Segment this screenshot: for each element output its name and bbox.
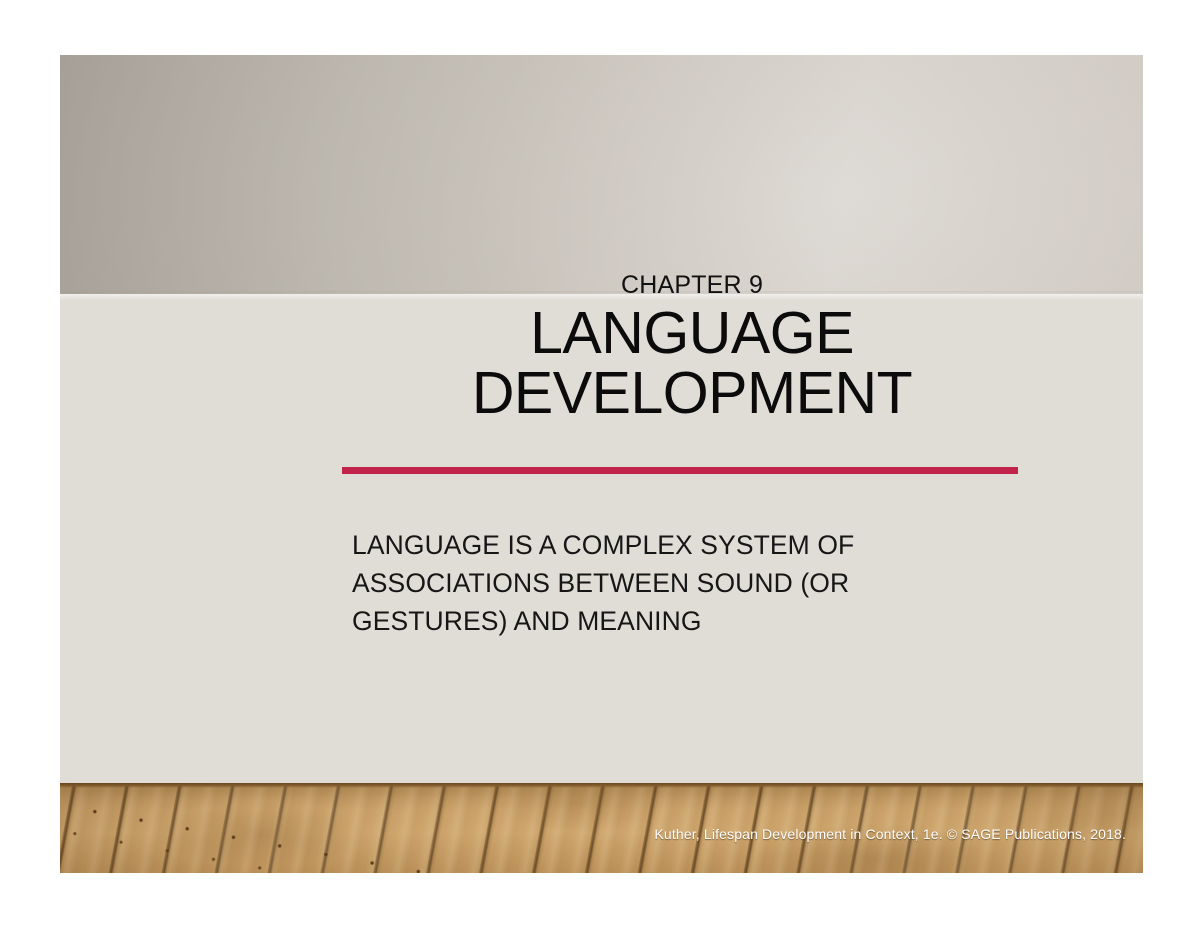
slide-subtitle-line-3: GESTURES) AND MEANING [352,603,1012,641]
slide-page: CHAPTER 9 LANGUAGE DEVELOPMENT LANGUAGE … [0,0,1200,927]
chapter-label: CHAPTER 9 [352,273,1032,298]
accent-divider-rule [342,467,1018,474]
copyright-credit-line: Kuther, Lifespan Development in Context,… [60,826,1126,842]
slide-subtitle-line-1: LANGUAGE IS A COMPLEX SYSTEM OF [352,527,1012,565]
slide-title: LANGUAGE DEVELOPMENT [352,303,1032,423]
slide-title-line-1: LANGUAGE [352,303,1032,363]
presentation-slide: CHAPTER 9 LANGUAGE DEVELOPMENT LANGUAGE … [60,55,1143,873]
slide-subtitle: LANGUAGE IS A COMPLEX SYSTEM OF ASSOCIAT… [352,527,1012,641]
slide-subtitle-line-2: ASSOCIATIONS BETWEEN SOUND (OR [352,565,1012,603]
slide-title-line-2: DEVELOPMENT [352,363,1032,423]
wall-upper-background [60,55,1143,294]
